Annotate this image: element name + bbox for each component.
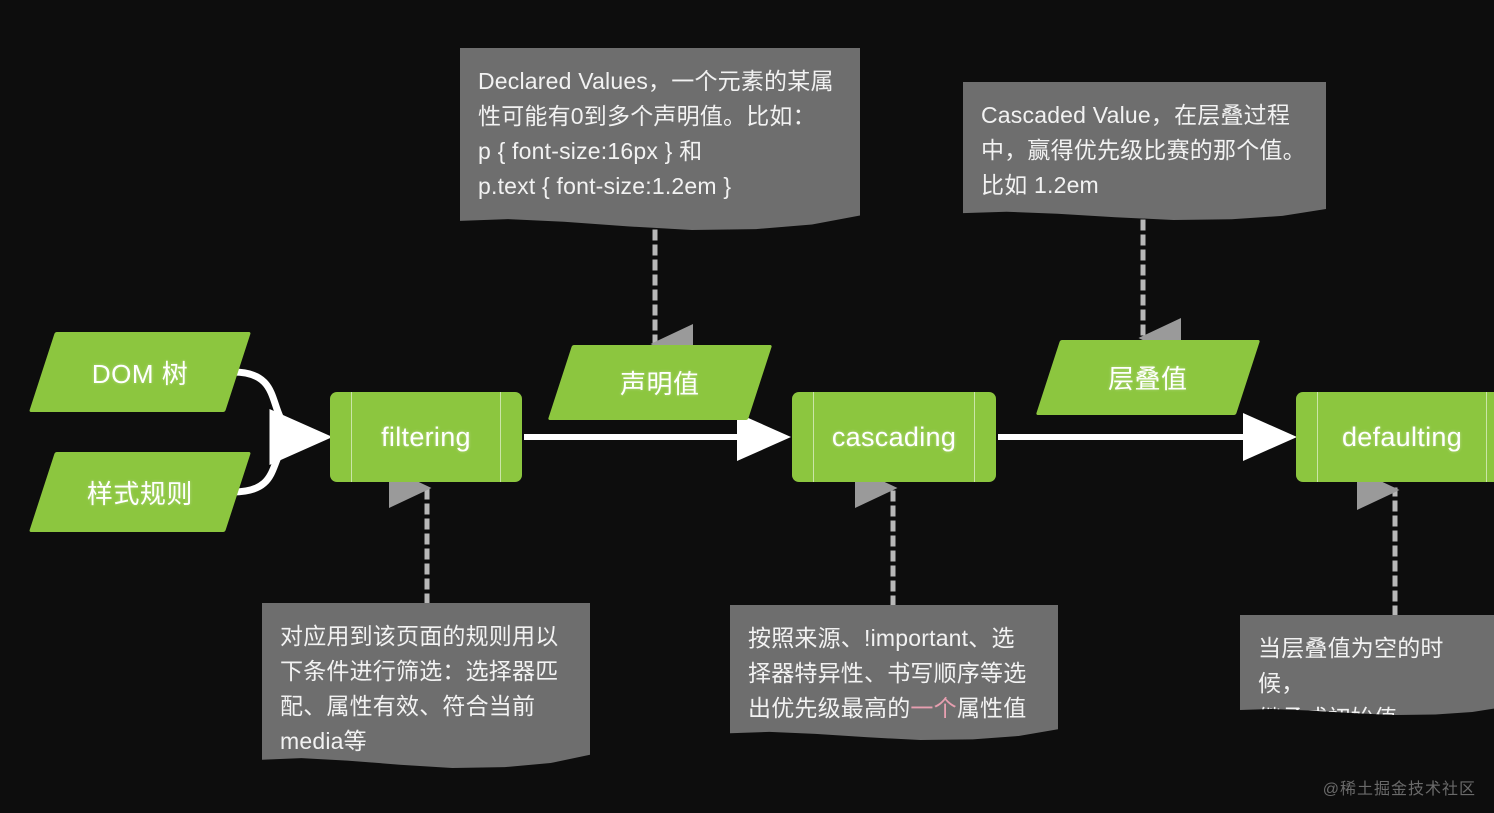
note-line: p.text { font-size:1.2em }: [478, 169, 842, 204]
node-dom-tree-label: DOM 树: [92, 354, 188, 391]
process-right-rail: [1486, 392, 1487, 482]
note-line: 配、属性有效、符合当前: [280, 689, 572, 724]
input-merge-connector: [233, 372, 322, 492]
note-line-prefix: 出优先级最高的: [748, 695, 910, 721]
note-line: p { font-size:16px } 和: [478, 134, 842, 169]
note-line: Cascaded Value，在层叠过程: [981, 98, 1308, 133]
node-style-rules[interactable]: 样式规则: [29, 452, 251, 532]
node-cascaded-value-label: 层叠值: [1108, 359, 1188, 396]
node-dom-tree[interactable]: DOM 树: [29, 332, 251, 412]
process-right-rail: [500, 392, 501, 482]
node-defaulting-label: defaulting: [1342, 422, 1462, 453]
node-defaulting[interactable]: defaulting: [1296, 392, 1494, 482]
node-declared-value[interactable]: 声明值: [548, 345, 772, 420]
note-line: Declared Values，一个元素的某属: [478, 64, 842, 99]
node-style-rules-label: 样式规则: [87, 474, 193, 511]
note-highlight-one: 一个: [910, 695, 956, 721]
note-declared-values: Declared Values，一个元素的某属 性可能有0到多个声明值。比如： …: [460, 48, 860, 230]
diagram-canvas: DOM 树 样式规则 声明值 层叠值 filtering cascading d…: [0, 0, 1494, 813]
note-line: 对应用到该页面的规则用以: [280, 619, 572, 654]
note-line-highlighted: 出优先级最高的一个属性值: [748, 691, 1040, 726]
watermark: @稀土掘金技术社区: [1323, 775, 1476, 799]
node-declared-value-label: 声明值: [620, 364, 700, 401]
note-filtering-detail: 对应用到该页面的规则用以 下条件进行筛选：选择器匹 配、属性有效、符合当前 me…: [262, 603, 590, 768]
node-cascaded-value[interactable]: 层叠值: [1036, 340, 1260, 415]
node-filtering[interactable]: filtering: [330, 392, 522, 482]
note-line: 当层叠值为空的时候，: [1258, 631, 1486, 701]
node-cascading[interactable]: cascading: [792, 392, 996, 482]
process-right-rail: [974, 392, 975, 482]
note-cascaded-value: Cascaded Value，在层叠过程 中，赢得优先级比赛的那个值。 比如 1…: [963, 82, 1326, 220]
note-line: 按照来源、!important、选: [748, 621, 1040, 656]
note-defaulting-detail: 当层叠值为空的时候， 继承或初始值: [1240, 615, 1494, 715]
note-line: 比如 1.2em: [981, 168, 1308, 203]
note-line: 择器特异性、书写顺序等选: [748, 656, 1040, 691]
note-line: 性可能有0到多个声明值。比如：: [478, 99, 842, 134]
process-left-rail: [1317, 392, 1318, 482]
process-left-rail: [813, 392, 814, 482]
node-cascading-label: cascading: [832, 422, 956, 453]
note-line: media等: [280, 724, 572, 759]
note-line: 下条件进行筛选：选择器匹: [280, 654, 572, 689]
note-cascading-detail: 按照来源、!important、选 择器特异性、书写顺序等选 出优先级最高的一个…: [730, 605, 1058, 740]
note-line: 中，赢得优先级比赛的那个值。: [981, 133, 1308, 168]
note-line-suffix: 属性值: [957, 695, 1027, 721]
node-filtering-label: filtering: [381, 422, 471, 453]
process-left-rail: [351, 392, 352, 482]
